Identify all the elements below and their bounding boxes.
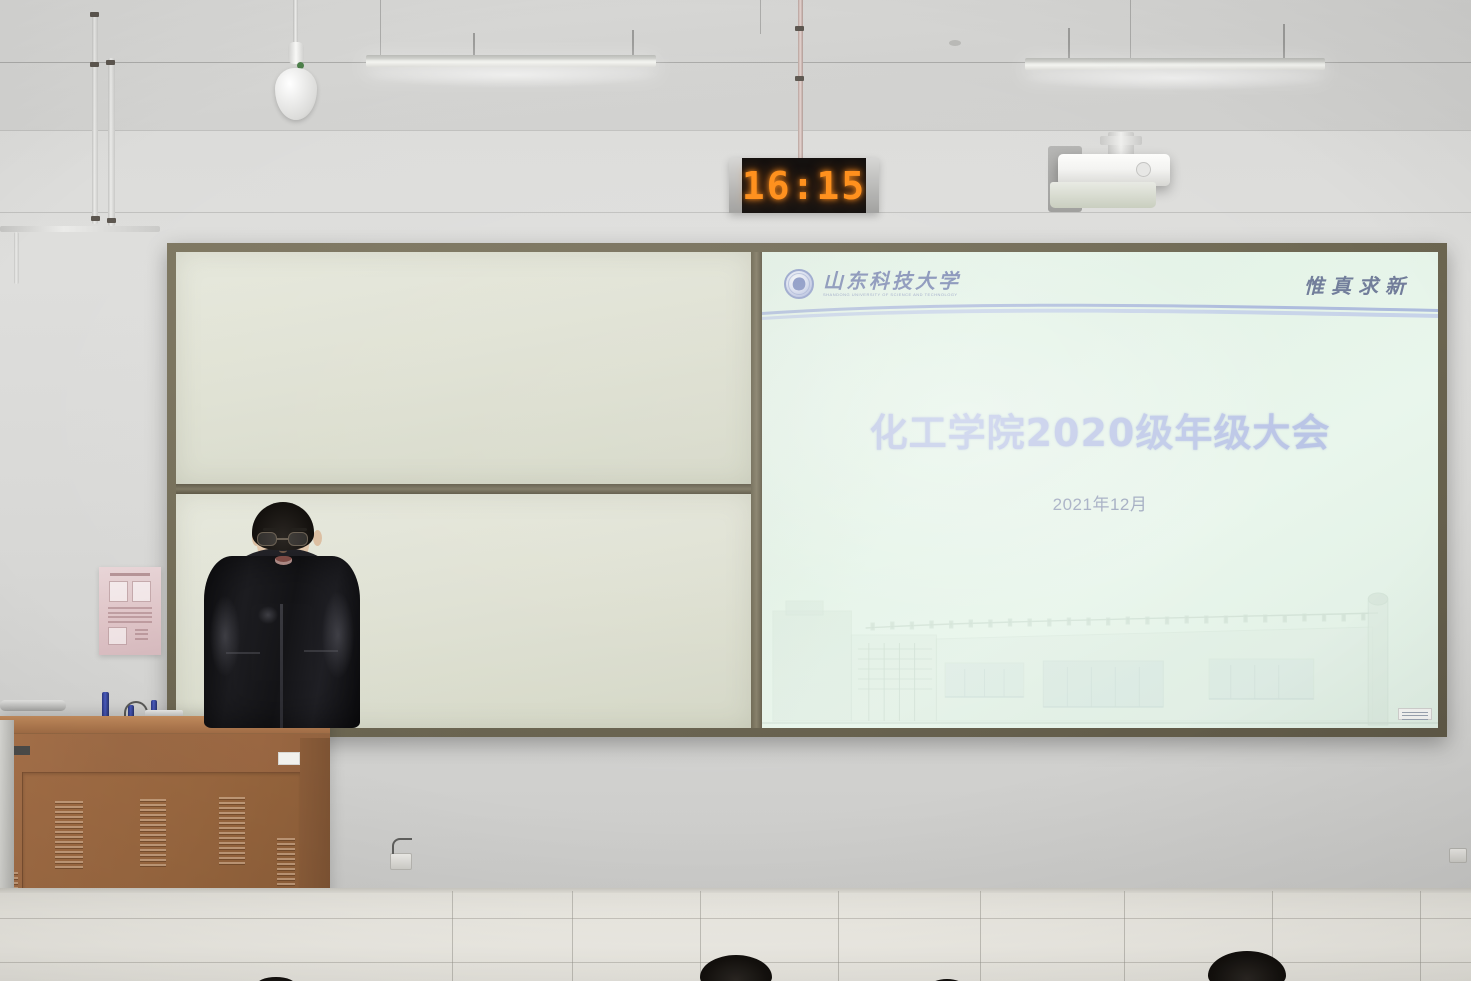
whiteboard-panel-upper: [176, 252, 751, 484]
classroom-scene: 16:15 山东科技大学 SHANDONG UNIVERSI: [0, 0, 1471, 981]
wall-conduit-pipe: [14, 232, 19, 284]
wall-power-outlet[interactable]: [390, 853, 412, 870]
whiteboard-panel-separator: [176, 484, 751, 494]
campus-watermark-illustration: [762, 583, 1438, 728]
whiteboard-asset-label: [1398, 708, 1432, 720]
wall-safety-poster: [99, 567, 161, 655]
poster-diagram-icon: [108, 627, 127, 645]
podium-vent-slots: [219, 797, 245, 864]
university-emblem-icon: [784, 269, 814, 299]
clock-display: 16:15: [742, 158, 866, 213]
slide-swoosh-decoration: [762, 299, 1438, 321]
poster-diagram-icon: [132, 581, 151, 602]
camera-neck: [288, 42, 304, 64]
university-name-en: SHANDONG UNIVERSITY OF SCIENCE AND TECHN…: [823, 292, 961, 297]
wall-conduit-pipe: [0, 226, 160, 232]
university-logo: 山东科技大学 SHANDONG UNIVERSITY OF SCIENCE AN…: [784, 269, 961, 299]
podium-asset-label: [278, 752, 300, 765]
poster-diagram-icon: [109, 581, 128, 602]
podium-vent-slots: [140, 799, 166, 866]
podium-vent-slots: [55, 801, 83, 868]
university-name-block: 山东科技大学 SHANDONG UNIVERSITY OF SCIENCE AN…: [823, 271, 961, 297]
projection-screen-area: 山东科技大学 SHANDONG UNIVERSITY OF SCIENCE AN…: [762, 252, 1438, 728]
presenter: [196, 500, 376, 725]
ceiling-mount-pole: [293, 0, 298, 46]
outlet-wire: [392, 838, 412, 854]
wall-power-outlet[interactable]: [1449, 848, 1467, 863]
presenter-glasses: [257, 532, 309, 547]
clock-bracket-left: [729, 158, 742, 213]
wall-conduit-pipe: [108, 58, 115, 226]
presenter-jacket-zipper: [280, 604, 283, 728]
projector-lens: [1050, 182, 1156, 208]
presenter-ear: [313, 530, 322, 546]
microphone-stand: [0, 700, 66, 711]
slide-title: 化工学院2020级年级大会: [762, 402, 1438, 457]
clock-bracket-right: [866, 158, 879, 213]
whiteboard-center-divider: [751, 252, 762, 728]
blue-marker-pen: [102, 692, 109, 718]
projected-slide: 山东科技大学 SHANDONG UNIVERSITY OF SCIENCE AN…: [762, 252, 1438, 728]
projector-lens-knob: [1136, 162, 1151, 177]
digital-wall-clock: 16:15: [729, 158, 879, 213]
podium-side-vent-slots: [277, 838, 295, 895]
university-motto: 惟真求新: [1304, 270, 1412, 299]
presenter-mouth: [275, 556, 292, 565]
university-name-cn: 山东科技大学: [823, 271, 961, 291]
projector-arm: [1100, 136, 1142, 145]
slide-subtitle: 2021年12月: [762, 490, 1438, 515]
wall-conduit-pipe: [92, 14, 98, 224]
